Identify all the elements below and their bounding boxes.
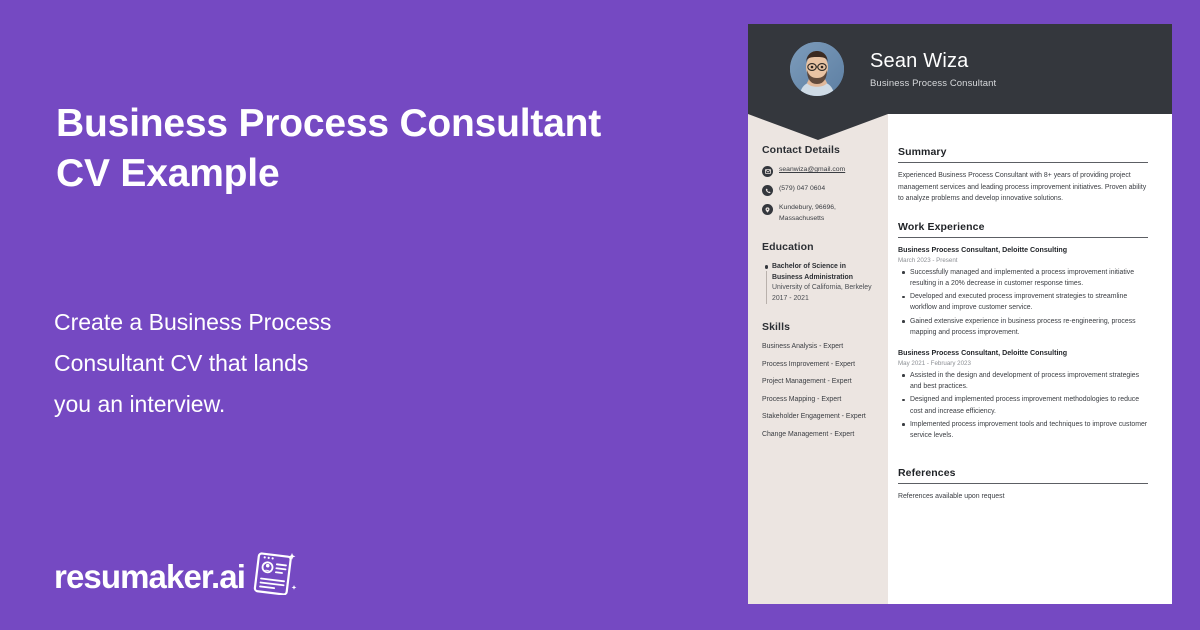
job-bullet-list: Successfully managed and implemented a p… xyxy=(898,267,1148,338)
work-experience-section: Work Experience Business Process Consult… xyxy=(898,221,1148,441)
page-title: Business Process Consultant CV Example xyxy=(56,99,676,199)
phone-icon xyxy=(762,185,773,196)
job-title: Business Process Consultant, Deloitte Co… xyxy=(898,245,1148,256)
spacer xyxy=(898,205,1148,221)
skill-item: Change Management - Expert xyxy=(762,430,876,441)
contact-row-phone[interactable]: (579) 047 0604 xyxy=(762,184,876,196)
education-timeline xyxy=(762,262,771,304)
job-dates: May 2021 - February 2023 xyxy=(898,360,1148,367)
avatar xyxy=(790,42,844,96)
summary-heading: Summary xyxy=(898,146,1148,163)
skill-item: Project Management - Expert xyxy=(762,377,876,388)
skills-heading: Skills xyxy=(762,321,876,333)
location-pin-icon xyxy=(762,204,773,215)
page-subtitle-line-3: you an interview. xyxy=(54,384,484,425)
page-subtitle-line-1: Create a Business Process xyxy=(54,302,484,343)
education-degree: Bachelor of Science in Business Administ… xyxy=(772,262,876,283)
work-experience-heading: Work Experience xyxy=(898,221,1148,238)
job-bullet: Implemented process improvement tools an… xyxy=(898,419,1148,441)
skill-item: Business Analysis - Expert xyxy=(762,342,876,353)
contact-phone[interactable]: (579) 047 0604 xyxy=(779,184,825,195)
references-heading: References xyxy=(898,467,1148,484)
job-bullet: Designed and implemented process improve… xyxy=(898,394,1148,416)
education-section: Education Bachelor of Science in Busines… xyxy=(762,241,876,304)
skill-item: Stakeholder Engagement - Expert xyxy=(762,412,876,423)
resume-sidebar: Contact Details seanwiza@gmail.com (579)… xyxy=(748,114,888,604)
page-subtitle: Create a Business Process Consultant CV … xyxy=(54,302,484,425)
job-title: Business Process Consultant, Deloitte Co… xyxy=(898,348,1148,359)
envelope-icon xyxy=(762,166,773,177)
summary-text: Experienced Business Process Consultant … xyxy=(898,170,1148,205)
education-school: University of California, Berkeley xyxy=(772,283,876,294)
bullet-dot-icon xyxy=(765,265,769,269)
education-heading: Education xyxy=(762,241,876,253)
contact-row-location: Kundebury, 96696, Massachusetts xyxy=(762,203,876,224)
contact-location: Kundebury, 96696, Massachusetts xyxy=(779,203,876,224)
job-bullet: Assisted in the design and development o… xyxy=(898,370,1148,392)
spacer xyxy=(898,451,1148,467)
resume-document-icon xyxy=(247,549,299,595)
education-item: Bachelor of Science in Business Administ… xyxy=(762,262,876,304)
job-bullet: Successfully managed and implemented a p… xyxy=(898,267,1148,289)
education-body: Bachelor of Science in Business Administ… xyxy=(771,262,876,304)
resume-preview-card[interactable]: Sean Wiza Business Process Consultant Co… xyxy=(748,24,1172,604)
skill-item: Process Improvement - Expert xyxy=(762,360,876,371)
education-dates: 2017 - 2021 xyxy=(772,294,876,305)
job-bullet: Gained extensive experience in business … xyxy=(898,316,1148,338)
page-subtitle-line-2: Consultant CV that lands xyxy=(54,343,484,384)
candidate-role: Business Process Consultant xyxy=(870,78,996,89)
skill-item: Process Mapping - Expert xyxy=(762,395,876,406)
contact-details-heading: Contact Details xyxy=(762,144,876,156)
resumaker-logo[interactable]: resumaker.ai xyxy=(54,549,299,595)
resume-header: Sean Wiza Business Process Consultant xyxy=(748,24,1172,114)
job-dates: March 2023 - Present xyxy=(898,257,1148,264)
contact-row-email[interactable]: seanwiza@gmail.com xyxy=(762,165,876,177)
logo-wordmark: resumaker.ai xyxy=(54,559,245,595)
job-entry: Business Process Consultant, Deloitte Co… xyxy=(898,245,1148,338)
promo-panel: Business Process Consultant CV Example C… xyxy=(0,0,748,630)
resume-main-column: Summary Experienced Business Process Con… xyxy=(888,114,1172,604)
page-title-line-1: Business Process Consultant xyxy=(56,99,676,149)
references-text: References available upon request xyxy=(898,491,1148,502)
resume-header-text: Sean Wiza Business Process Consultant xyxy=(870,49,996,89)
candidate-name: Sean Wiza xyxy=(870,49,996,73)
job-bullet-list: Assisted in the design and development o… xyxy=(898,370,1148,441)
page-title-line-2: CV Example xyxy=(56,149,676,199)
job-entry: Business Process Consultant, Deloitte Co… xyxy=(898,348,1148,441)
contact-email[interactable]: seanwiza@gmail.com xyxy=(779,165,845,176)
skills-section: Skills Business Analysis - Expert Proces… xyxy=(762,321,876,440)
timeline-line xyxy=(766,271,767,305)
references-section: References References available upon req… xyxy=(898,467,1148,502)
job-bullet: Developed and executed process improveme… xyxy=(898,291,1148,313)
summary-section: Summary Experienced Business Process Con… xyxy=(898,146,1148,205)
